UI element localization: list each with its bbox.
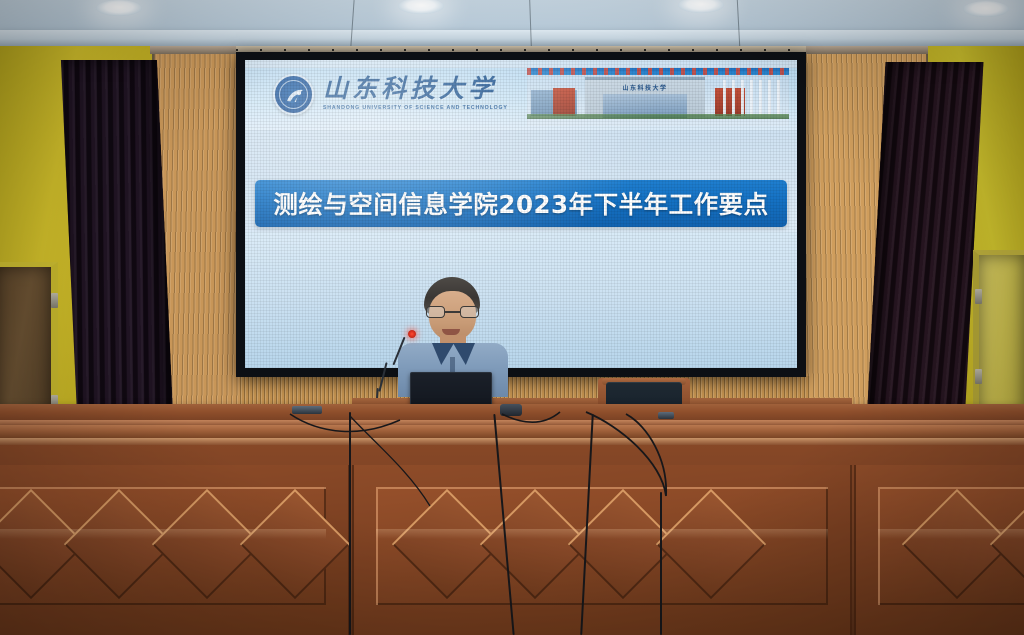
led-screen[interactable]: 山东科技大学 SHANDONG UNIVERSITY OF SCIENCE AN… <box>245 60 797 368</box>
recessed-downlight <box>963 1 1009 17</box>
hanging-av-cable <box>660 492 662 635</box>
led-screen-frame: 山东科技大学 SHANDONG UNIVERSITY OF SCIENCE AN… <box>236 52 806 377</box>
university-logo: 山东科技大学 SHANDONG UNIVERSITY OF SCIENCE AN… <box>273 74 508 115</box>
ceiling-soffit <box>0 30 1024 46</box>
banner-colonnade <box>723 80 785 118</box>
door-hinge <box>975 369 982 384</box>
photo-scene: 山东科技大学 SHANDONG UNIVERSITY OF SCIENCE AN… <box>0 0 1024 635</box>
university-seal-icon <box>273 74 314 115</box>
cable-loop <box>280 400 700 510</box>
recessed-downlight <box>398 0 444 14</box>
curtain-rail-right <box>792 46 928 54</box>
banner-building-red-left <box>553 88 575 116</box>
recessed-downlight <box>678 0 724 13</box>
presentation-slide: 山东科技大学 SHANDONG UNIVERSITY OF SCIENCE AN… <box>245 60 797 368</box>
eyeglass-bridge <box>445 311 460 313</box>
slide-title-band: 测绘与空间信息学院2023年下半年工作要点 <box>255 180 787 227</box>
recessed-downlight <box>96 0 142 16</box>
stage-curtain-right[interactable] <box>865 62 984 462</box>
podium-panel-inner <box>0 487 326 605</box>
slide-body <box>245 232 797 368</box>
eyeglass-lens-right <box>460 306 479 318</box>
microphone-indicator-light <box>408 330 416 338</box>
slide-title: 测绘与空间信息学院2023年下半年工作要点 <box>273 186 768 221</box>
banner-top-strip <box>527 68 789 75</box>
podium-panel-inner <box>878 487 1024 605</box>
gate-sign-text: 山东科技大学 <box>585 83 705 92</box>
banner-greenery <box>527 114 789 119</box>
door-hinge <box>975 289 982 304</box>
podium-panel <box>854 465 1024 635</box>
diamond-inlay <box>990 489 1024 599</box>
campus-gate-photo: 山东科技大学 <box>527 68 789 126</box>
university-name-en: SHANDONG UNIVERSITY OF SCIENCE AND TECHN… <box>323 106 508 111</box>
stage-curtain-left[interactable] <box>61 60 175 460</box>
eyeglass-lens-left <box>426 306 445 318</box>
university-name-cn: 山东科技大学 <box>323 77 508 102</box>
door-hinge <box>51 293 58 308</box>
ceiling-wire <box>529 0 532 46</box>
eyeglasses-icon <box>426 306 479 318</box>
